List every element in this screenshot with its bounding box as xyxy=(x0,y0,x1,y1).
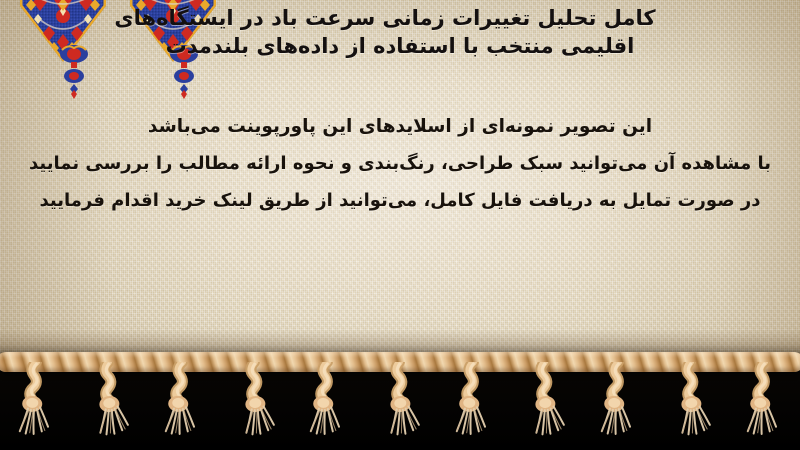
carpet-tassel-icon xyxy=(378,362,422,440)
slide-body: این تصویر نمونه‌ای از اسلایدهای این پاور… xyxy=(0,108,800,220)
carpet-tassel-icon xyxy=(523,362,567,440)
carpet-tassel-icon xyxy=(160,362,204,440)
carpet-tassel-icon xyxy=(87,362,131,440)
carpet-tassel-icon xyxy=(596,362,640,440)
carpet-tassel-icon xyxy=(742,362,786,440)
slide-title-line-1: کامل تحلیل تغییرات زمانی سرعت باد در ایس… xyxy=(40,4,760,32)
slide-body-line-3: در صورت تمایل به دریافت فایل کامل، می‌تو… xyxy=(26,183,774,220)
carpet-tassel-icon xyxy=(451,362,495,440)
carpet-tassel-icon xyxy=(233,362,277,440)
slide-body-line-1: این تصویر نمونه‌ای از اسلایدهای این پاور… xyxy=(26,108,774,146)
slide-canvas: کامل تحلیل تغییرات زمانی سرعت باد در ایس… xyxy=(0,0,800,450)
slide-title-line-2: اقلیمی منتخب با استفاده از داده‌های بلند… xyxy=(40,32,760,60)
carpet-tassel-icon xyxy=(305,362,349,440)
slide-title: کامل تحلیل تغییرات زمانی سرعت باد در ایس… xyxy=(0,4,800,60)
carpet-tassel-icon xyxy=(669,362,713,440)
carpet-tassel-icon xyxy=(14,362,58,440)
slide-body-line-2: با مشاهده آن می‌توانید سبک طراحی، رنگ‌بن… xyxy=(26,146,774,183)
